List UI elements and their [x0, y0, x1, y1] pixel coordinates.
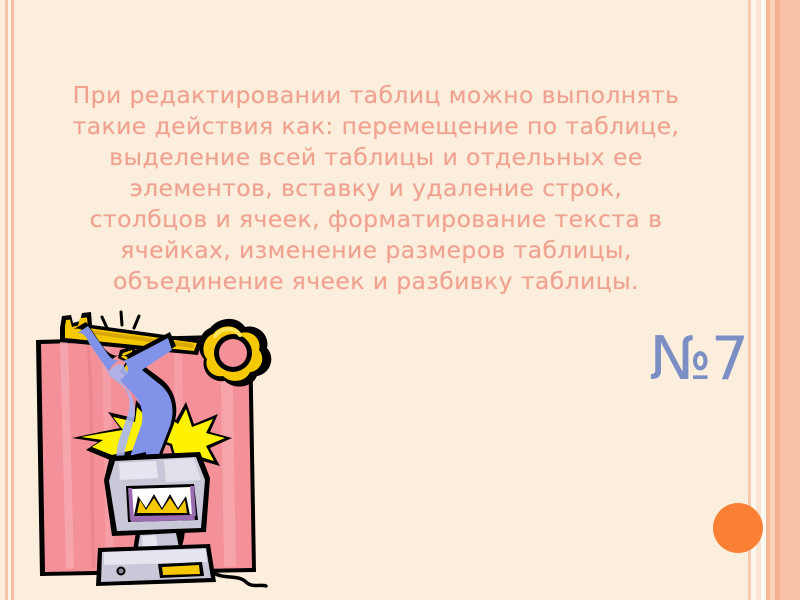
slide-canvas: При редактировании таблиц можно выполнят…	[0, 0, 800, 600]
body-text-line: объединение ячеек и разбивку таблицы.	[40, 266, 712, 297]
slide-body-text: При редактировании таблиц можно выполнят…	[40, 80, 712, 297]
body-text-line: такие действия как: перемещение по табли…	[40, 111, 712, 142]
body-text-line: элементов, вставку и удаление строк,	[40, 173, 712, 204]
body-text-line: ячейках, изменение размеров таблицы,	[40, 235, 712, 266]
left-decorative-stripe	[0, 0, 26, 600]
clipart-person-with-key-shredder	[24, 300, 276, 590]
clipart-motion-sparks	[102, 312, 139, 328]
body-text-line: выделение всей таблицы и отдельных ее	[40, 142, 712, 173]
body-text-line: столбцов и ячеек, форматирование текста …	[40, 204, 712, 235]
orange-accent-circle	[713, 503, 763, 553]
slide-number-label: №7	[560, 326, 748, 392]
body-text-line: При редактировании таблиц можно выполнят…	[40, 80, 712, 111]
